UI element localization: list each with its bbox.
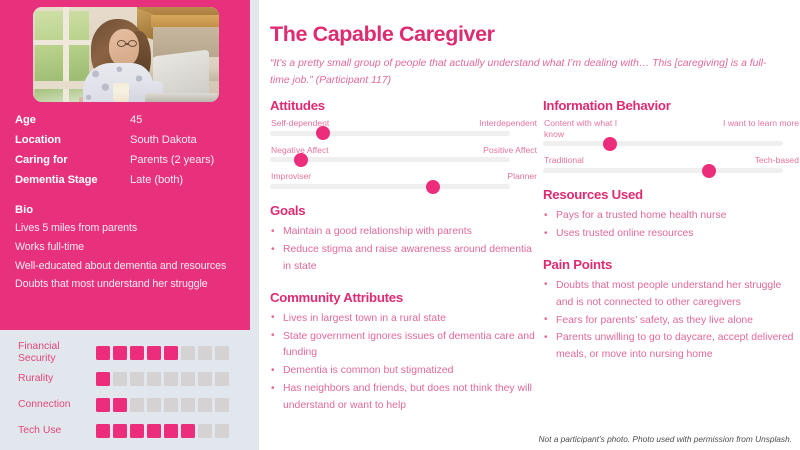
rating-square[interactable] bbox=[130, 398, 144, 412]
rating-square[interactable] bbox=[198, 398, 212, 412]
rating-square[interactable] bbox=[164, 424, 178, 438]
scale-right-label: Interdependent bbox=[479, 118, 537, 129]
attribute-label: Age bbox=[15, 114, 130, 126]
rating-squares bbox=[96, 346, 229, 360]
scale-left-label: Improviser bbox=[271, 171, 311, 182]
scale-track[interactable] bbox=[270, 184, 510, 189]
bio-line: Well-educated about dementia and resourc… bbox=[15, 261, 250, 273]
rating-square[interactable] bbox=[113, 424, 127, 438]
rating-square[interactable] bbox=[215, 372, 229, 386]
scale-thumb[interactable] bbox=[294, 153, 308, 167]
bio-line: Doubts that most understand her struggle bbox=[15, 279, 250, 291]
pain-points-list: Doubts that most people understand her s… bbox=[543, 278, 800, 364]
rating-label: Connection bbox=[18, 399, 96, 411]
attitude-scale: Negative Affect Positive Affect bbox=[270, 145, 538, 163]
rating-row: Rurality bbox=[18, 366, 250, 392]
rating-square[interactable] bbox=[164, 346, 178, 360]
list-item: Parents unwilling to go to daycare, acce… bbox=[543, 330, 800, 364]
rating-square[interactable] bbox=[113, 372, 127, 386]
information-behavior-scale: Content with what I know I want to learn… bbox=[543, 118, 800, 147]
rating-square[interactable] bbox=[147, 372, 161, 386]
rating-square[interactable] bbox=[198, 424, 212, 438]
attribute-label: Caring for bbox=[15, 154, 130, 166]
resources-used-heading: Resources Used bbox=[543, 187, 800, 202]
community-attributes-list: Lives in largest town in a rural state S… bbox=[270, 311, 538, 415]
rating-square[interactable] bbox=[181, 398, 195, 412]
scale-track[interactable] bbox=[543, 141, 783, 146]
rating-square[interactable] bbox=[215, 398, 229, 412]
persona-card: Age 45 Location South Dakota Caring for … bbox=[0, 0, 800, 450]
attitudes-heading: Attitudes bbox=[270, 98, 538, 113]
main-content: The Capable Caregiver “It’s a pretty sma… bbox=[250, 0, 800, 450]
scale-track[interactable] bbox=[543, 168, 783, 173]
list-item: Doubts that most people understand her s… bbox=[543, 278, 800, 312]
rating-square[interactable] bbox=[147, 424, 161, 438]
attribute-value: Parents (2 years) bbox=[130, 154, 214, 166]
scale-right-label: Positive Affect bbox=[483, 145, 537, 156]
information-behavior-scale: Traditional Tech-based bbox=[543, 155, 800, 173]
attribute-row: Age 45 bbox=[0, 114, 250, 134]
list-item: Maintain a good relationship with parent… bbox=[270, 224, 538, 241]
rating-row: Tech Use bbox=[18, 418, 250, 444]
list-item: Lives in largest town in a rural state bbox=[270, 311, 538, 328]
rating-squares bbox=[96, 398, 229, 412]
rating-square[interactable] bbox=[215, 346, 229, 360]
rating-square[interactable] bbox=[147, 398, 161, 412]
rating-square[interactable] bbox=[198, 346, 212, 360]
attribute-value: South Dakota bbox=[130, 134, 197, 146]
attribute-label: Dementia Stage bbox=[15, 174, 130, 186]
rating-square[interactable] bbox=[147, 346, 161, 360]
rating-square[interactable] bbox=[96, 346, 110, 360]
attribute-row: Caring for Parents (2 years) bbox=[0, 154, 250, 174]
attribute-row: Dementia Stage Late (both) bbox=[0, 174, 250, 194]
rating-label: Financial Security bbox=[18, 341, 96, 364]
attribute-value: 45 bbox=[130, 114, 142, 126]
profile-column: Age 45 Location South Dakota Caring for … bbox=[0, 0, 250, 450]
ratings-panel: Financial Security Rurality Connection T… bbox=[0, 330, 250, 450]
attitude-scale: Self-dependent Interdependent bbox=[270, 118, 538, 136]
attribute-row: Location South Dakota bbox=[0, 134, 250, 154]
profile-panel: Age 45 Location South Dakota Caring for … bbox=[0, 0, 250, 330]
rating-square[interactable] bbox=[96, 372, 110, 386]
scale-left-label: Traditional bbox=[544, 155, 584, 166]
list-item: State government ignores issues of demen… bbox=[270, 329, 538, 363]
scale-right-label: Planner bbox=[507, 171, 537, 182]
rating-square[interactable] bbox=[164, 398, 178, 412]
rating-square[interactable] bbox=[96, 424, 110, 438]
pain-points-heading: Pain Points bbox=[543, 257, 800, 272]
rating-square[interactable] bbox=[113, 346, 127, 360]
page-title: The Capable Caregiver bbox=[270, 22, 800, 47]
list-item: Uses trusted online resources bbox=[543, 226, 800, 243]
rating-square[interactable] bbox=[181, 346, 195, 360]
rating-square[interactable] bbox=[164, 372, 178, 386]
list-item: Dementia is common but stigmatized bbox=[270, 363, 538, 380]
rating-squares bbox=[96, 424, 229, 438]
rating-square[interactable] bbox=[181, 424, 195, 438]
scale-thumb[interactable] bbox=[316, 126, 330, 140]
bio-line: Works full-time bbox=[15, 242, 250, 254]
scale-thumb[interactable] bbox=[603, 137, 617, 151]
attribute-value: Late (both) bbox=[130, 174, 183, 186]
attribute-list: Age 45 Location South Dakota Caring for … bbox=[0, 114, 250, 194]
bio-heading: Bio bbox=[15, 204, 250, 216]
rating-square[interactable] bbox=[181, 372, 195, 386]
rating-square[interactable] bbox=[198, 372, 212, 386]
rating-label: Rurality bbox=[18, 373, 96, 385]
rating-row: Financial Security bbox=[18, 340, 250, 366]
scale-thumb[interactable] bbox=[426, 180, 440, 194]
bio-line: Lives 5 miles from parents bbox=[15, 223, 250, 235]
list-item: Reduce stigma and raise awareness around… bbox=[270, 242, 538, 276]
resources-used-list: Pays for a trusted home health nurse Use… bbox=[543, 208, 800, 243]
right-content-column: Information Behavior Content with what I… bbox=[538, 98, 800, 416]
persona-photo bbox=[33, 7, 219, 102]
attitude-scale: Improviser Planner bbox=[270, 171, 538, 189]
scale-thumb[interactable] bbox=[702, 164, 716, 178]
rating-square[interactable] bbox=[215, 424, 229, 438]
left-content-column: Attitudes Self-dependent Interdependent … bbox=[270, 98, 538, 416]
list-item: Has neighbors and friends, but does not … bbox=[270, 381, 538, 415]
photo-credit-footnote: Not a participant’s photo. Photo used wi… bbox=[539, 434, 793, 444]
list-item: Pays for a trusted home health nurse bbox=[543, 208, 800, 225]
rating-square[interactable] bbox=[96, 398, 110, 412]
goals-heading: Goals bbox=[270, 203, 538, 218]
scale-track[interactable] bbox=[270, 157, 510, 162]
persona-quote: “It’s a pretty small group of people tha… bbox=[270, 56, 780, 90]
scale-track[interactable] bbox=[270, 131, 510, 136]
rating-label: Tech Use bbox=[18, 425, 96, 437]
community-attributes-heading: Community Attributes bbox=[270, 290, 538, 305]
scale-right-label: I want to learn more bbox=[723, 118, 799, 140]
rating-square[interactable] bbox=[113, 398, 127, 412]
scale-right-label: Tech-based bbox=[755, 155, 799, 166]
rating-row: Connection bbox=[18, 392, 250, 418]
rating-square[interactable] bbox=[130, 346, 144, 360]
list-item: Fears for parents’ safety, as they live … bbox=[543, 313, 800, 330]
rating-squares bbox=[96, 372, 229, 386]
attribute-label: Location bbox=[15, 134, 130, 146]
information-behavior-heading: Information Behavior bbox=[543, 98, 800, 113]
rating-square[interactable] bbox=[130, 424, 144, 438]
rating-square[interactable] bbox=[130, 372, 144, 386]
goals-list: Maintain a good relationship with parent… bbox=[270, 224, 538, 276]
